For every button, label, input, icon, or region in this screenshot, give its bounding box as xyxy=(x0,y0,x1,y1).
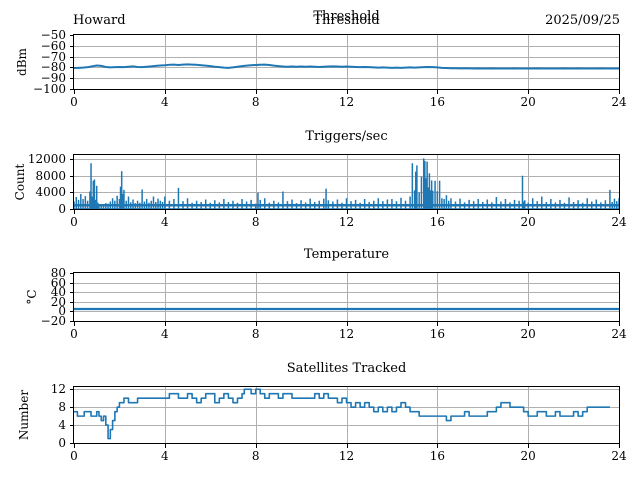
ytick-mark xyxy=(70,46,74,47)
xtick-label-threshold: 20 xyxy=(521,96,536,108)
chart-title-threshold: Threshold xyxy=(73,10,620,23)
ylabel-threshold: dBm xyxy=(15,48,29,76)
xtick-mark xyxy=(74,322,75,326)
ytick-label-triggers: 8000 xyxy=(0,170,66,182)
xtick-label-triggers: 4 xyxy=(161,216,169,228)
ytick-mark xyxy=(70,407,74,408)
xtick-label-triggers: 20 xyxy=(521,216,536,228)
xtick-label-threshold: 24 xyxy=(611,96,626,108)
xtick-mark xyxy=(74,210,75,214)
xtick-label-satellites: 16 xyxy=(430,450,445,462)
xtick-label-triggers: 12 xyxy=(339,216,354,228)
xtick-mark xyxy=(256,210,257,214)
xtick-label-triggers: 16 xyxy=(430,216,445,228)
ytick-mark xyxy=(70,209,74,210)
ytick-label-triggers: 12000 xyxy=(0,153,66,165)
xtick-mark xyxy=(74,444,75,448)
xtick-mark xyxy=(347,322,348,326)
xtick-mark xyxy=(165,90,166,94)
xtick-label-satellites: 12 xyxy=(339,450,354,462)
plot-area-temperature xyxy=(73,272,620,322)
ytick-mark xyxy=(70,35,74,36)
xtick-label-temperature: 12 xyxy=(339,328,354,340)
xtick-mark xyxy=(528,90,529,94)
ytick-mark xyxy=(70,57,74,58)
header-station-name: Howard xyxy=(73,14,126,27)
xtick-mark xyxy=(619,210,620,214)
xtick-label-threshold: 16 xyxy=(430,96,445,108)
ytick-mark xyxy=(70,283,74,284)
ytick-label-threshold: −50 xyxy=(0,29,66,41)
xtick-mark xyxy=(528,210,529,214)
xtick-label-triggers: 8 xyxy=(252,216,260,228)
xtick-mark xyxy=(256,90,257,94)
xtick-mark xyxy=(347,90,348,94)
chart-title-temperature: Temperature xyxy=(73,248,620,261)
xtick-label-temperature: 16 xyxy=(430,328,445,340)
xtick-mark xyxy=(619,444,620,448)
chart-title-triggers: Triggers/sec xyxy=(73,130,620,143)
xtick-label-temperature: 20 xyxy=(521,328,536,340)
ylabel-triggers: Count xyxy=(13,164,27,201)
xtick-label-satellites: 20 xyxy=(521,450,536,462)
xtick-label-satellites: 4 xyxy=(161,450,169,462)
ytick-mark xyxy=(70,176,74,177)
xtick-mark xyxy=(165,210,166,214)
xtick-mark xyxy=(256,322,257,326)
ytick-mark xyxy=(70,78,74,79)
trace-triggers xyxy=(74,155,619,209)
xtick-mark xyxy=(528,444,529,448)
plot-area-threshold xyxy=(73,34,620,90)
xtick-label-temperature: 4 xyxy=(161,328,169,340)
xtick-mark xyxy=(437,210,438,214)
xtick-mark xyxy=(256,444,257,448)
trace-temperature xyxy=(74,273,619,321)
xtick-label-satellites: 0 xyxy=(70,450,78,462)
ytick-mark xyxy=(70,321,74,322)
ytick-label-satellites: 0 xyxy=(0,437,66,449)
ytick-label-triggers: 0 xyxy=(0,203,66,215)
ytick-mark xyxy=(70,425,74,426)
xtick-label-triggers: 24 xyxy=(611,216,626,228)
ytick-label-satellites: 8 xyxy=(0,401,66,413)
ytick-mark xyxy=(70,192,74,193)
xtick-label-temperature: 0 xyxy=(70,328,78,340)
series-line xyxy=(74,158,619,209)
xtick-mark xyxy=(619,90,620,94)
xtick-mark xyxy=(437,444,438,448)
xtick-mark xyxy=(165,322,166,326)
header-date: 2025/09/25 xyxy=(545,14,620,27)
xtick-mark xyxy=(347,210,348,214)
xtick-label-threshold: 8 xyxy=(252,96,260,108)
ytick-mark xyxy=(70,292,74,293)
ylabel-satellites: Number xyxy=(17,390,31,440)
ytick-label-temperature: 80 xyxy=(0,267,66,279)
ytick-mark xyxy=(70,89,74,90)
xtick-mark xyxy=(619,322,620,326)
series-line xyxy=(74,64,619,68)
ytick-mark xyxy=(70,443,74,444)
ytick-label-triggers: 4000 xyxy=(0,186,66,198)
plot-area-satellites xyxy=(73,386,620,444)
trace-satellites xyxy=(74,387,619,443)
chart-title-satellites: Satellites Tracked xyxy=(73,362,620,375)
ytick-mark xyxy=(70,273,74,274)
xtick-label-temperature: 24 xyxy=(611,328,626,340)
ytick-mark xyxy=(70,389,74,390)
xtick-mark xyxy=(528,322,529,326)
xtick-mark xyxy=(165,444,166,448)
xtick-mark xyxy=(437,322,438,326)
xtick-mark xyxy=(74,90,75,94)
xtick-label-threshold: 4 xyxy=(161,96,169,108)
ytick-label-satellites: 12 xyxy=(0,383,66,395)
xtick-label-threshold: 0 xyxy=(70,96,78,108)
figure-canvas: Howard Threshold 2025/09/25 Threshold−10… xyxy=(0,0,640,480)
ytick-label-satellites: 4 xyxy=(0,419,66,431)
ytick-mark xyxy=(70,311,74,312)
ytick-mark xyxy=(70,67,74,68)
xtick-mark xyxy=(347,444,348,448)
ylabel-temperature: °C xyxy=(25,289,39,304)
xtick-mark xyxy=(437,90,438,94)
xtick-label-temperature: 8 xyxy=(252,328,260,340)
series-line xyxy=(74,389,610,438)
xtick-label-triggers: 0 xyxy=(70,216,78,228)
xtick-label-threshold: 12 xyxy=(339,96,354,108)
ytick-mark xyxy=(70,159,74,160)
trace-threshold xyxy=(74,35,619,89)
plot-area-triggers xyxy=(73,154,620,210)
xtick-label-satellites: 8 xyxy=(252,450,260,462)
xtick-label-satellites: 24 xyxy=(611,450,626,462)
ytick-mark xyxy=(70,302,74,303)
